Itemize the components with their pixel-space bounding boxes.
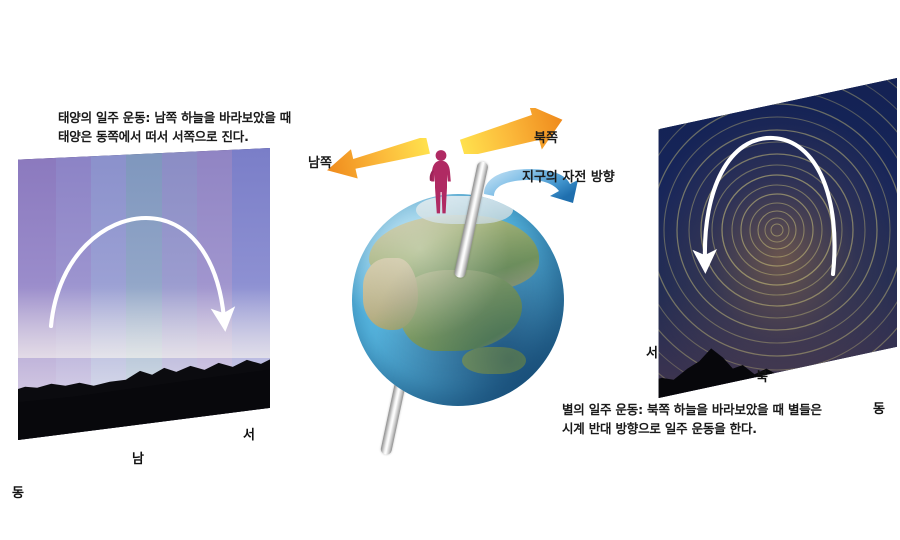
south-arrow-label: 남쪽 [308, 152, 332, 171]
star-motion-caption: 별의 일주 운동: 북쪽 하늘을 바라보았을 때 별들은 시계 반대 방향으로 … [562, 400, 822, 439]
star-trail-panel [655, 78, 897, 398]
left-direction-east: 동 [12, 482, 24, 501]
sun-photo-surface [18, 148, 270, 440]
left-direction-west: 서 [243, 424, 255, 443]
north-arrow-label: 북쪽 [534, 127, 558, 146]
rotation-arrow-label: 지구의 자전 방향 [522, 166, 615, 185]
diagram-canvas: 태양의 일주 운동: 남쪽 하늘을 바라보았을 때 태양은 동쪽에서 떠서 서쪽… [0, 0, 900, 540]
right-direction-east: 동 [873, 398, 885, 417]
mountain-silhouette [655, 328, 897, 398]
star-trail-surface [655, 78, 897, 398]
north-direction-arrow [458, 108, 588, 154]
right-direction-west: 서 [646, 342, 658, 361]
right-direction-north: 북 [756, 366, 768, 385]
horizon-silhouette [18, 347, 270, 440]
left-direction-south: 남 [132, 448, 144, 467]
sun-motion-caption: 태양의 일주 운동: 남쪽 하늘을 바라보았을 때 태양은 동쪽에서 떠서 서쪽… [58, 108, 291, 147]
sun-photo-panel [18, 148, 270, 440]
